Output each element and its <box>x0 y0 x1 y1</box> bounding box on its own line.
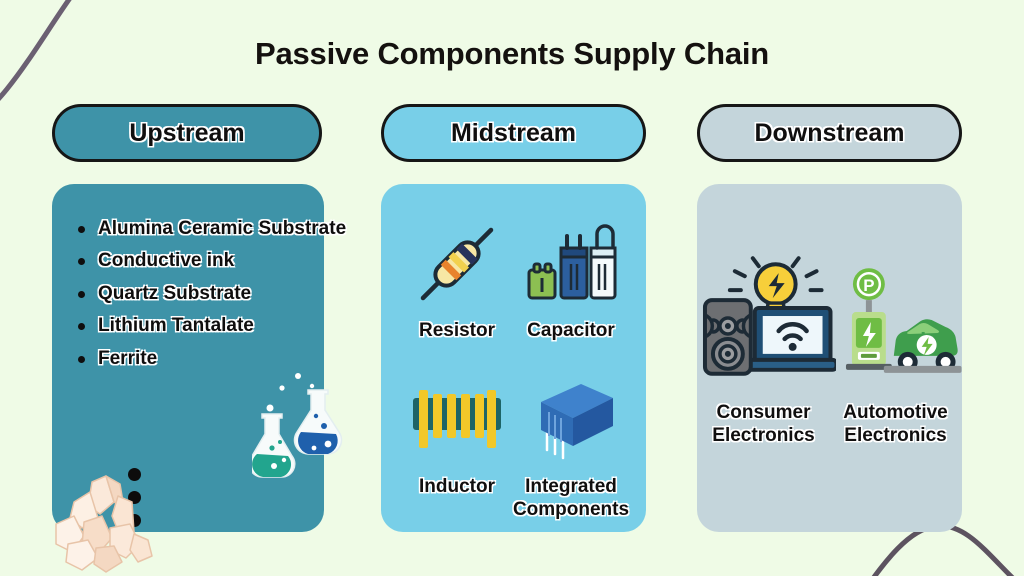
midstream-item-label: Integrated Components <box>507 476 635 522</box>
midstream-item-label: Inductor <box>393 476 521 499</box>
inductor-icon <box>393 364 521 476</box>
resistor-icon <box>393 208 521 320</box>
flask-icon <box>252 370 348 482</box>
midstream-item-resistor[interactable]: Resistor <box>393 208 521 343</box>
list-item: Conductive ink <box>98 250 348 272</box>
midstream-item-capacitor[interactable]: Capacitor <box>507 208 635 343</box>
automotive-electronics-icon[interactable]: P <box>838 266 962 386</box>
infographic-canvas: Passive Components Supply Chain Upstream… <box>0 0 1024 576</box>
column-header-upstream[interactable]: Upstream <box>52 104 322 162</box>
downstream-item-label: Automotive Electronics <box>834 402 958 448</box>
midstream-item-integrated-components[interactable]: Integrated Components <box>507 364 635 522</box>
downstream-icon-row: P <box>697 236 962 386</box>
midstream-item-label: Resistor <box>393 320 521 343</box>
downstream-card: P Con <box>697 184 962 532</box>
column-header-midstream[interactable]: Midstream <box>381 104 646 162</box>
svg-text:P: P <box>864 276 875 295</box>
integrated-components-icon <box>507 364 635 476</box>
list-item: Quartz Substrate <box>98 283 348 305</box>
column-header-downstream[interactable]: Downstream <box>697 104 962 162</box>
list-item: Lithium Tantalate <box>98 315 348 337</box>
capacitor-icon <box>507 208 635 320</box>
downstream-item-label: Consumer Electronics <box>702 402 826 448</box>
column-header-label: Upstream <box>129 119 244 148</box>
list-item: Alumina Ceramic Substrate <box>98 218 348 240</box>
column-header-label: Downstream <box>754 119 904 148</box>
column-header-label: Midstream <box>451 119 576 148</box>
downstream-label-row: Consumer Electronics Automotive Electron… <box>697 402 962 448</box>
list-item: Ferrite <box>98 348 348 370</box>
page-title: Passive Components Supply Chain <box>0 36 1024 72</box>
crystal-icon <box>48 462 168 574</box>
consumer-electronics-icon[interactable] <box>697 256 836 386</box>
midstream-item-inductor[interactable]: Inductor <box>393 364 521 499</box>
midstream-item-label: Capacitor <box>507 320 635 343</box>
midstream-card: Resistor <box>381 184 646 532</box>
upstream-material-list: Alumina Ceramic Substrate Conductive ink… <box>66 218 348 380</box>
